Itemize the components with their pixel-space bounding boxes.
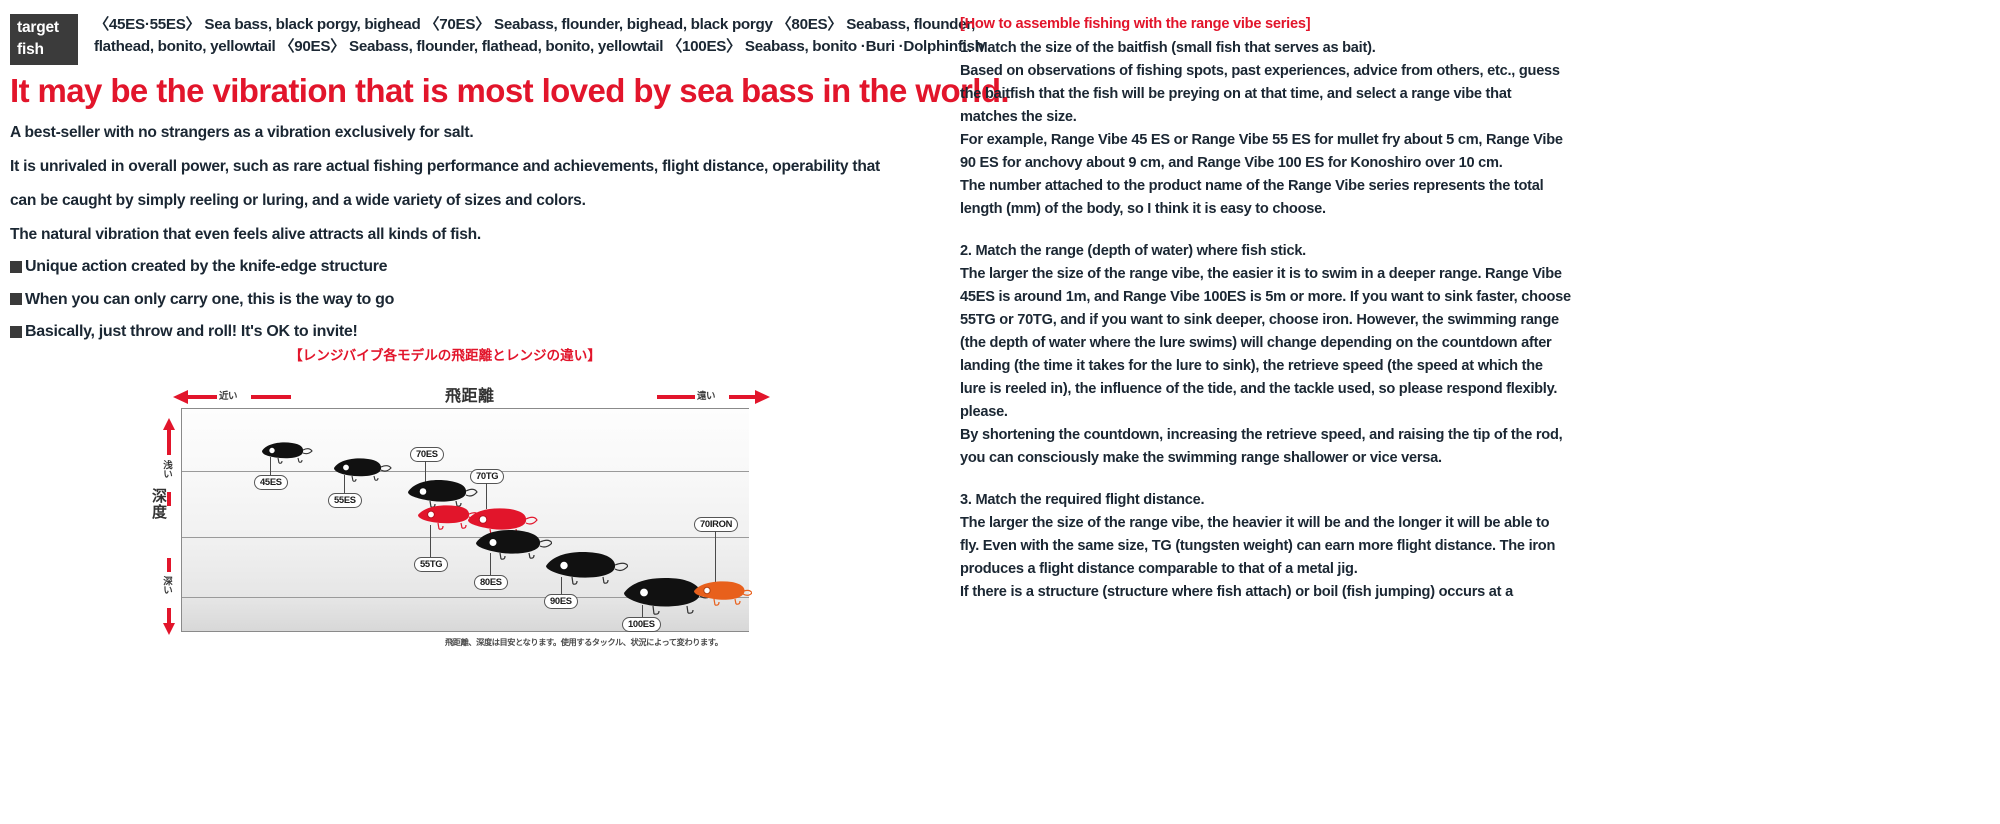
range-vibe-chart: 【レンジバイブ各モデルの飛距離とレンジの違い】 近い 遠い 飛距離	[145, 344, 765, 634]
text-line: you can consciously make the swimming ra…	[960, 447, 1600, 470]
lure-marker-45es	[258, 439, 314, 470]
intro-paragraph: The natural vibration that even feels al…	[10, 224, 960, 245]
y-axis-top-label: 浅い	[159, 460, 173, 478]
text-line: The number attached to the product name …	[960, 175, 1600, 198]
pin-line	[715, 531, 716, 583]
text-line: lure is reeled in), the influence of the…	[960, 378, 1600, 401]
list-item: Basically, just throw and roll! It's OK …	[10, 321, 960, 343]
text-line: 2. Match the range (depth of water) wher…	[960, 240, 1600, 263]
section-divider-spacer	[960, 469, 1600, 489]
text-line: landing (the time it takes for the lure …	[960, 355, 1600, 378]
text-line: (the depth of water where the lure swims…	[960, 332, 1600, 355]
target-badge-line2: fish	[17, 39, 78, 61]
lure-marker-55es	[330, 455, 392, 488]
right-column-heading: [How to assemble fishing with the range …	[960, 14, 1600, 35]
text-line: 55TG or 70TG, and if you want to sink de…	[960, 309, 1600, 332]
lure-marker-90es	[542, 549, 628, 590]
section-1-how-to-match-baitfish: 1. Match the size of the baitfish (small…	[960, 37, 1600, 220]
lure-label-55tg: 55TG	[414, 557, 448, 572]
text-line: By shortening the countdown, increasing …	[960, 424, 1600, 447]
far-arrow-icon: 遠い	[657, 390, 777, 404]
intro-paragraph: A best-seller with no strangers as a vib…	[10, 122, 960, 143]
target-fish-badge: target fish	[10, 14, 78, 65]
text-line: the baitfish that the fish will be preyi…	[960, 83, 1600, 106]
intro-paragraphs: A best-seller with no strangers as a vib…	[10, 122, 960, 258]
target-fish-row: target fish 〈45ES·55ES〉 Sea bass, black …	[10, 14, 955, 65]
text-line: produces a flight distance comparable to…	[960, 558, 1600, 581]
text-line: The larger the size of the range vibe, t…	[960, 512, 1600, 535]
chart-inner: 近い 遠い 飛距離 浅い 深度	[145, 370, 765, 632]
section-3-match-flight-distance: 3. Match the required flight distance. T…	[960, 489, 1600, 604]
x-axis-high-label: 遠い	[697, 388, 715, 402]
list-item: Unique action created by the knife-edge …	[10, 256, 960, 278]
text-line: 90 ES for anchovy about 9 cm, and Range …	[960, 152, 1600, 175]
product-page: target fish 〈45ES·55ES〉 Sea bass, black …	[0, 0, 2000, 824]
text-line: matches the size.	[960, 106, 1600, 129]
chart-footnote: 飛距離、深度は目安となります。使用するタックル、状況によって変わります。	[445, 636, 723, 648]
square-bullet-icon	[10, 326, 22, 338]
text-line: The larger the size of the range vibe, t…	[960, 263, 1600, 286]
x-axis-title: 飛距離	[445, 382, 495, 406]
bullet-label: When you can only carry one, this is the…	[25, 289, 394, 311]
square-bullet-icon	[10, 293, 22, 305]
page-title: It may be the vibration that is most lov…	[10, 73, 960, 109]
text-line: 1. Match the size of the baitfish (small…	[960, 37, 1600, 60]
text-line: 45ES is around 1m, and Range Vibe 100ES …	[960, 286, 1600, 309]
lure-label-70es: 70ES	[410, 447, 444, 462]
list-item: When you can only carry one, this is the…	[10, 289, 960, 311]
pin-line	[430, 525, 431, 561]
y-axis-title: 深度	[148, 488, 169, 520]
lure-label-80es: 80ES	[474, 575, 508, 590]
near-arrow-icon: 近い	[173, 390, 323, 404]
lure-label-100es: 100ES	[622, 617, 661, 632]
text-line: For example, Range Vibe 45 ES or Range V…	[960, 129, 1600, 152]
y-axis-bottom-label: 深い	[159, 576, 173, 594]
lure-marker-70iron	[690, 577, 752, 612]
square-bullet-icon	[10, 261, 22, 273]
target-badge-line1: target	[17, 17, 78, 39]
lure-label-90es: 90ES	[544, 594, 578, 609]
bullet-label: Unique action created by the knife-edge …	[25, 256, 387, 278]
section-2-match-the-range: 2. Match the range (depth of water) wher…	[960, 240, 1600, 469]
lure-label-70tg: 70TG	[470, 469, 504, 484]
intro-paragraph: can be caught by simply reeling or lurin…	[10, 190, 960, 211]
text-line: length (mm) of the body, so I think it i…	[960, 198, 1600, 221]
section-divider-spacer	[960, 220, 1600, 240]
right-column: [How to assemble fishing with the range …	[960, 14, 1600, 604]
y-axis-indicator-bottom: 深い	[153, 618, 179, 738]
feature-bullet-list: Unique action created by the knife-edge …	[10, 256, 960, 354]
text-line: 3. Match the required flight distance.	[960, 489, 1600, 512]
lure-label-45es: 45ES	[254, 475, 288, 490]
gridline	[182, 471, 749, 472]
bullet-label: Basically, just throw and roll! It's OK …	[25, 321, 358, 343]
text-line: please.	[960, 401, 1600, 424]
left-column: target fish 〈45ES·55ES〉 Sea bass, black …	[0, 0, 960, 824]
x-axis-low-label: 近い	[219, 388, 237, 402]
chart-title: 【レンジバイブ各モデルの飛距離とレンジの違い】	[145, 344, 745, 364]
lure-label-55es: 55ES	[328, 493, 362, 508]
target-fish-list: 〈45ES·55ES〉 Sea bass, black porgy, bighe…	[94, 14, 954, 58]
intro-paragraph: It is unrivaled in overall power, such a…	[10, 156, 960, 177]
text-line: If there is a structure (structure where…	[960, 581, 1600, 604]
text-line: fly. Even with the same size, TG (tungst…	[960, 535, 1600, 558]
fish-list-line: 〈45ES·55ES〉 Sea bass, black porgy, bighe…	[94, 14, 954, 36]
text-line: Based on observations of fishing spots, …	[960, 60, 1600, 83]
y-axis-indicator: 浅い	[153, 418, 179, 628]
fish-list-line: flathead, bonito, yellowtail 〈90ES〉 Seab…	[94, 36, 954, 58]
chart-plot-area: 45ES 55ES 70ES	[181, 408, 749, 632]
lure-marker-80es	[472, 527, 552, 566]
lure-label-70iron: 70IRON	[694, 517, 738, 532]
arrow-down-icon	[163, 623, 175, 635]
